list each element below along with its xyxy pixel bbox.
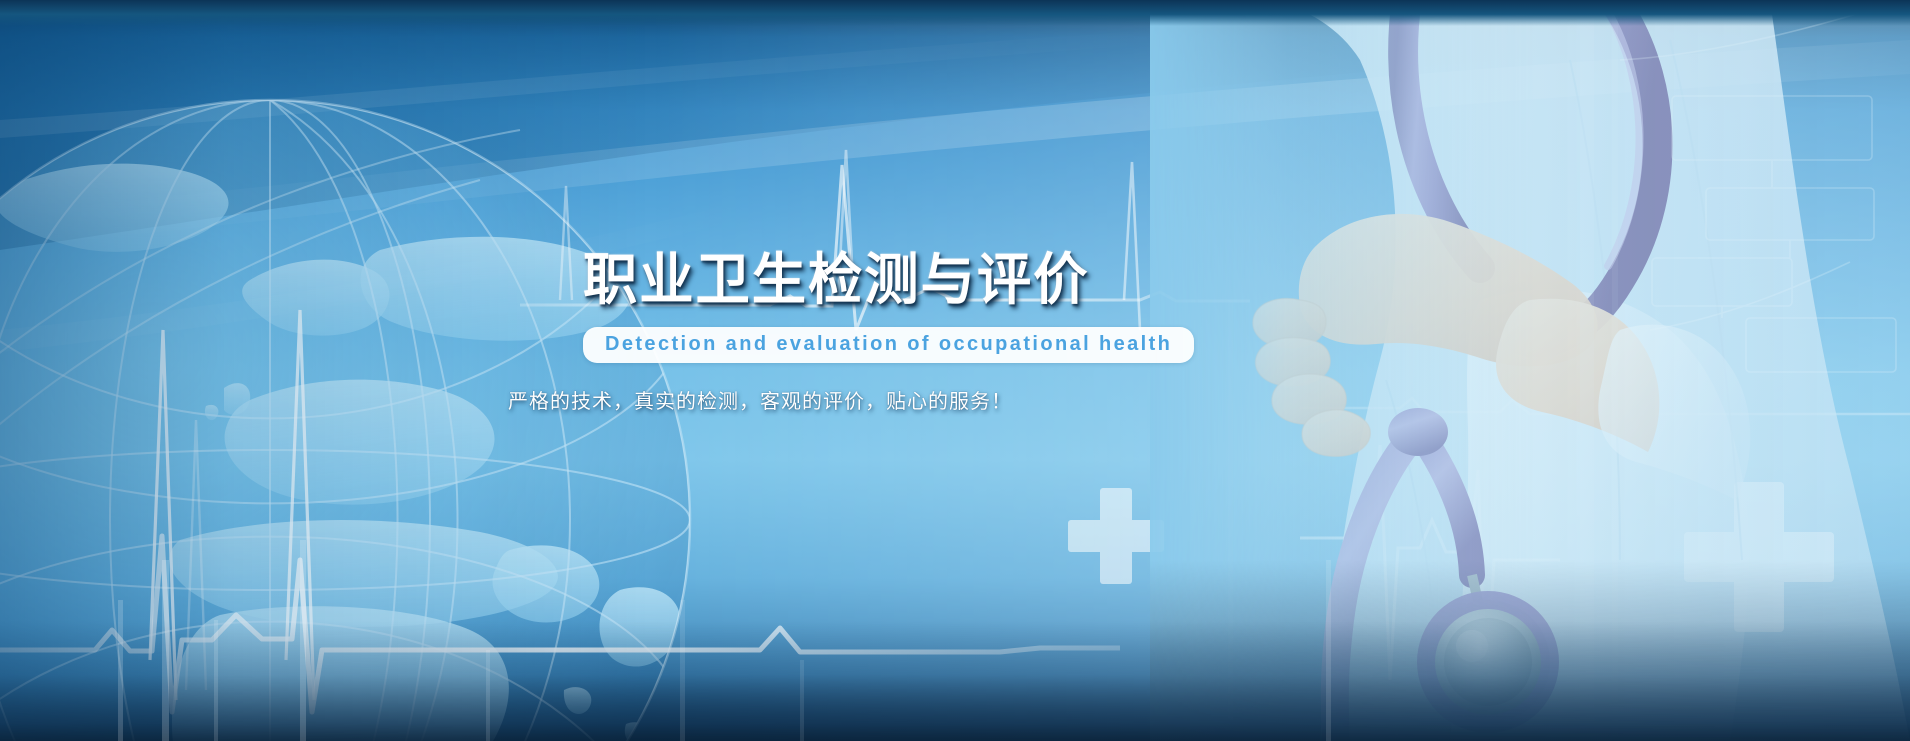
occupational-health-banner: 职业卫生检测与评价 Detection and evaluation of oc… bbox=[0, 0, 1910, 741]
banner-text-block: 职业卫生检测与评价 Detection and evaluation of oc… bbox=[583, 252, 1143, 414]
subtitle-badge: Detection and evaluation of occupational… bbox=[583, 327, 1194, 363]
tagline-text: 严格的技术，真实的检测，客观的评价，贴心的服务！ bbox=[508, 385, 1143, 414]
subtitle-text: Detection and evaluation of occupational… bbox=[605, 333, 1172, 355]
page-title: 职业卫生检测与评价 bbox=[583, 252, 1126, 309]
